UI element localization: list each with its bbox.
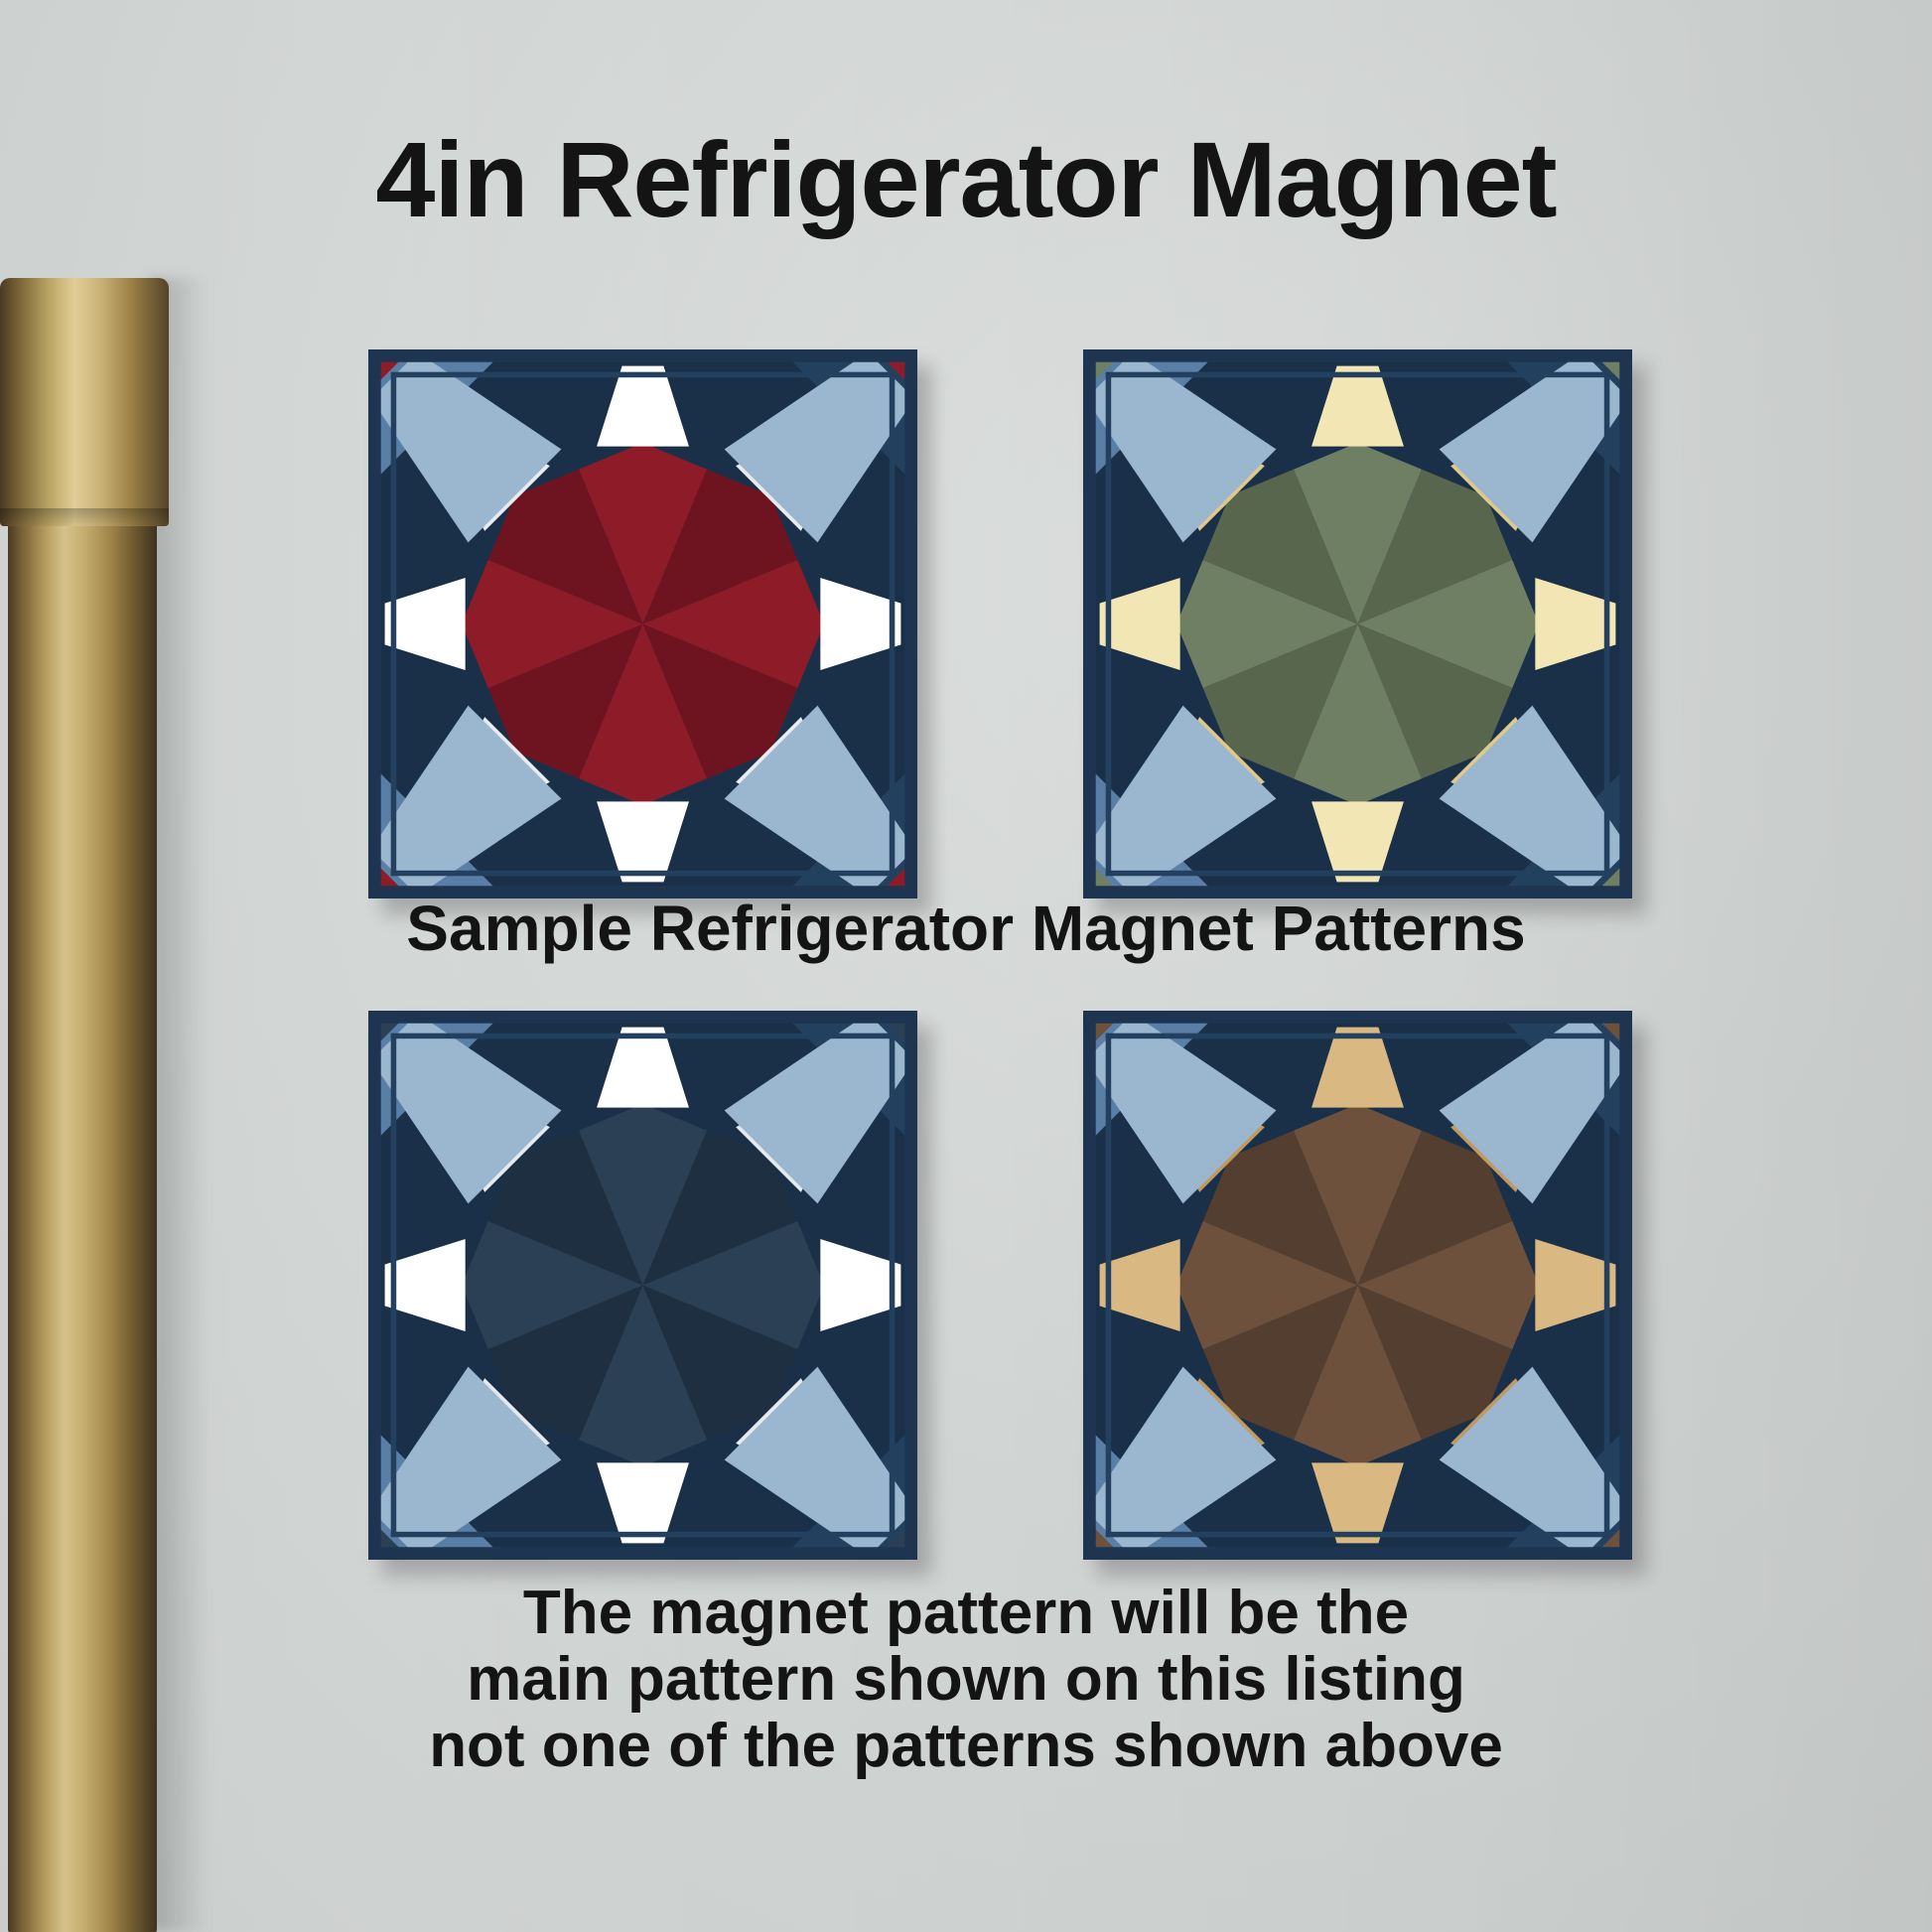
- disclaimer-caption: The magnet pattern will be the main patt…: [0, 1581, 1932, 1780]
- quilt-magnet-tile-2: [1083, 349, 1632, 898]
- quilt-magnet-tile-1: [368, 349, 917, 898]
- refrigerator-door-surface: 4in Refrigerator Magnet Sample Refrigera…: [0, 0, 1932, 1932]
- disclaimer-line-2: main pattern shown on this listing: [0, 1647, 1932, 1714]
- disclaimer-line-1: The magnet pattern will be the: [0, 1581, 1932, 1647]
- handle-cap: [0, 278, 169, 526]
- disclaimer-line-3: not one of the patterns shown above: [0, 1714, 1932, 1780]
- sample-patterns-caption: Sample Refrigerator Magnet Patterns: [0, 892, 1932, 965]
- page-title: 4in Refrigerator Magnet: [0, 117, 1932, 241]
- quilt-magnet-tile-4: [1083, 1011, 1632, 1560]
- quilt-magnet-tile-3: [368, 1011, 917, 1560]
